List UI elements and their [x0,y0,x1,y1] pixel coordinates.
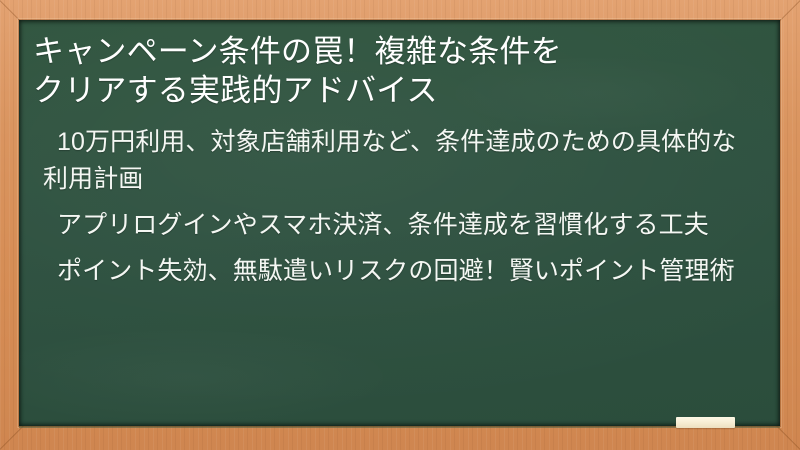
chalk-stick [676,417,735,428]
bullet-list: 10万円利用、対象店舗利用など、条件達成のための具体的な利用計画 アプリログイン… [33,124,750,290]
list-item: ポイント失効、無駄遣いリスクの回避！賢いポイント管理術 [43,253,750,290]
board-ledge-shadow [19,426,780,428]
blackboard-content: キャンペーン条件の罠！複雑な条件を クリアする実践的アドバイス 10万円利用、対… [33,32,750,290]
list-item: アプリログインやスマホ決済、条件達成を習慣化する工夫 [43,207,750,244]
slide-title: キャンペーン条件の罠！複雑な条件を クリアする実践的アドバイス [33,32,750,110]
blackboard-surface: キャンペーン条件の罠！複雑な条件を クリアする実践的アドバイス 10万円利用、対… [19,20,780,426]
blackboard-slide: キャンペーン条件の罠！複雑な条件を クリアする実践的アドバイス 10万円利用、対… [0,0,800,450]
list-item: 10万円利用、対象店舗利用など、条件達成のための具体的な利用計画 [43,124,750,198]
